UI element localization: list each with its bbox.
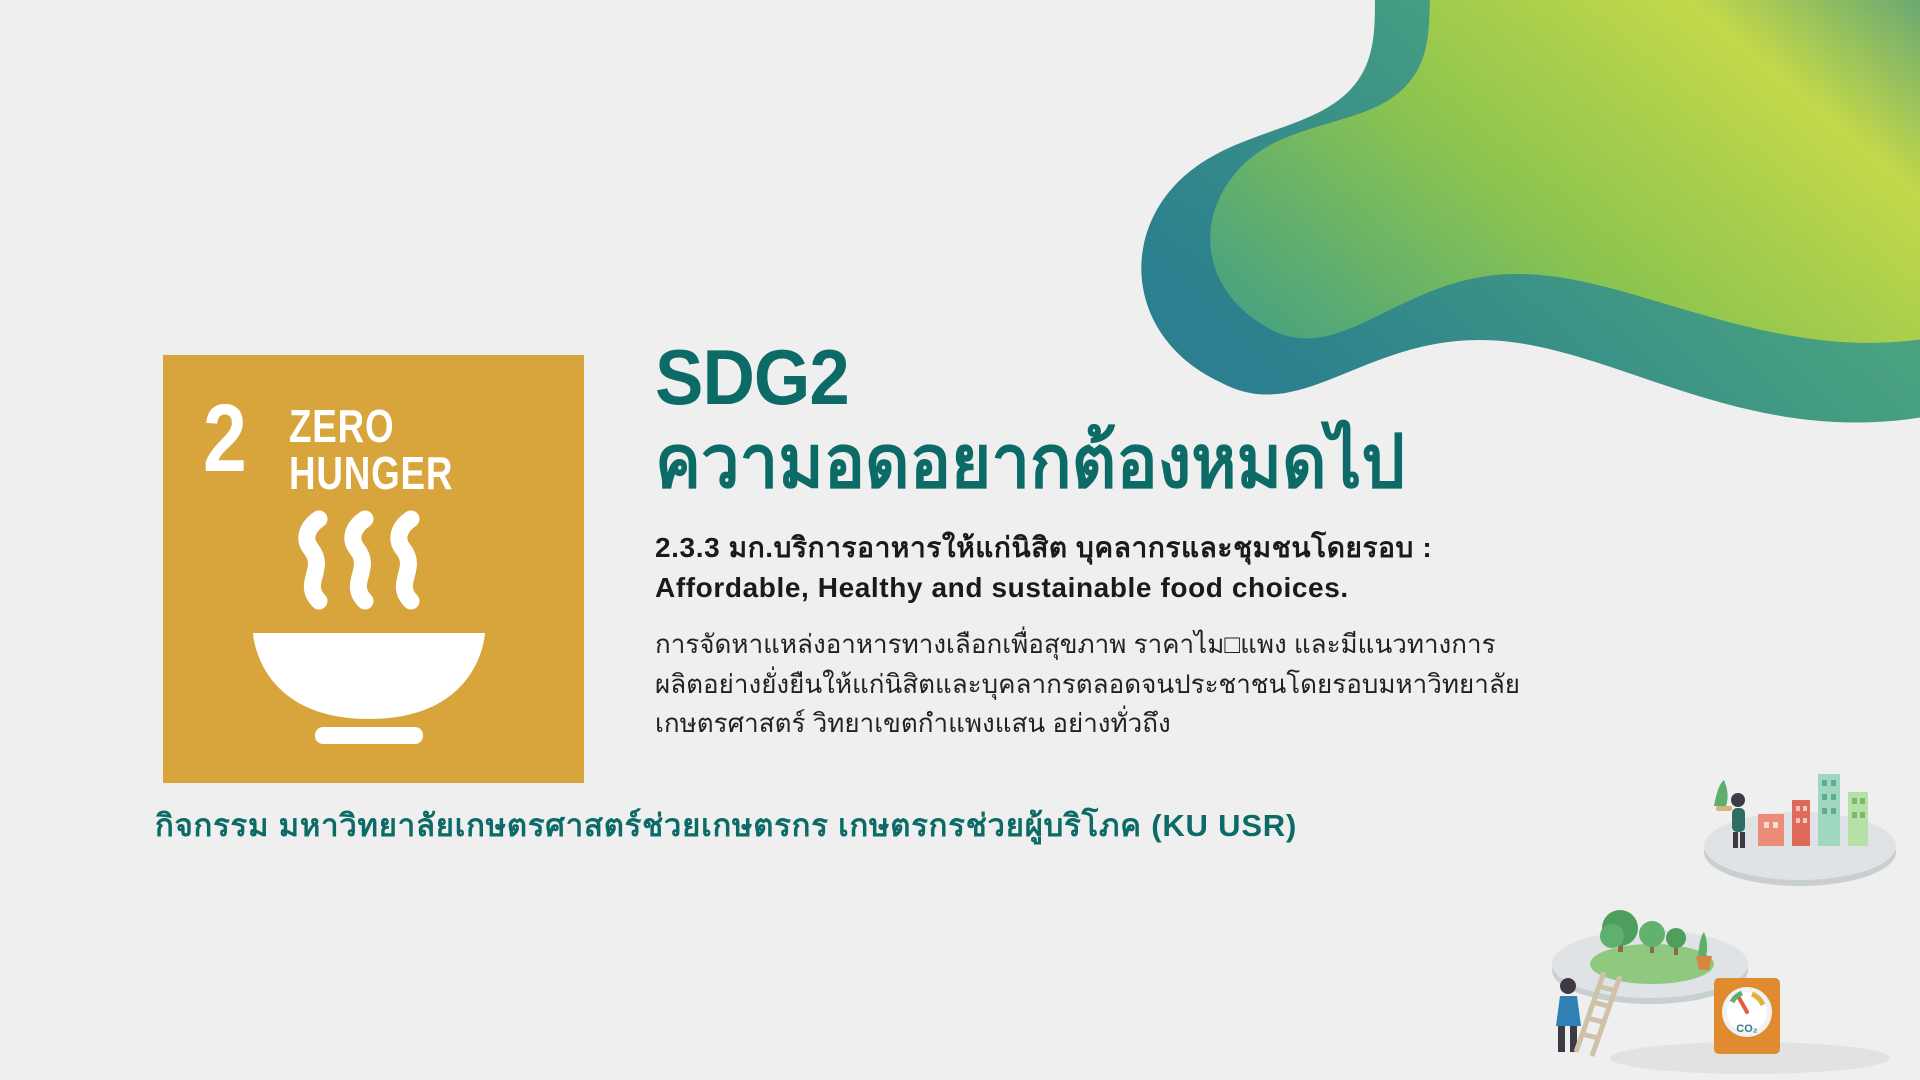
- content-column: SDG2 ความอดอยากต้องหมดไป 2.3.3 มก.บริการ…: [655, 338, 1775, 744]
- page-title-thai: ความอดอยากต้องหมดไป: [655, 422, 1697, 502]
- sdg-goal-title: ZERO HUNGER: [289, 403, 453, 497]
- sdg-goal-number: 2: [203, 393, 245, 484]
- sdg-goal-title-line1: ZERO: [289, 403, 453, 450]
- description-line-1: การจัดหาแหล่งอาหารทางเลือกเพื่อสุขภาพ รา…: [655, 625, 1720, 665]
- sustainable-city-isometric-illustration: CO₂: [1500, 740, 1920, 1080]
- indicator-block: 2.3.3 มก.บริการอาหารให้แก่นิสิต บุคลากรแ…: [655, 528, 1775, 608]
- indicator-english: Affordable, Healthy and sustainable food…: [655, 568, 1775, 608]
- sdg-goal-title-line2: HUNGER: [289, 450, 453, 497]
- page-title: SDG2: [655, 338, 1697, 416]
- description-block: การจัดหาแหล่งอาหารทางเลือกเพื่อสุขภาพ รา…: [655, 625, 1720, 744]
- sdg-goal-2-icon-tile: 2 ZERO HUNGER: [163, 355, 584, 783]
- activity-label: กิจกรรม มหาวิทยาลัยเกษตรศาสตร์ช่วยเกษตรก…: [155, 800, 1297, 850]
- steaming-bowl-icon: [223, 505, 523, 755]
- description-line-2: ผลิตอย่างยั่งยืนให้แก่นิสิตและบุคลากรตลอ…: [655, 665, 1720, 705]
- description-line-3: เกษตรศาสตร์ วิทยาเขตกำแพงแสน อย่างทั่วถึ…: [655, 704, 1720, 744]
- svg-text:CO₂: CO₂: [1736, 1023, 1758, 1035]
- indicator-thai: 2.3.3 มก.บริการอาหารให้แก่นิสิต บุคลากรแ…: [655, 528, 1775, 568]
